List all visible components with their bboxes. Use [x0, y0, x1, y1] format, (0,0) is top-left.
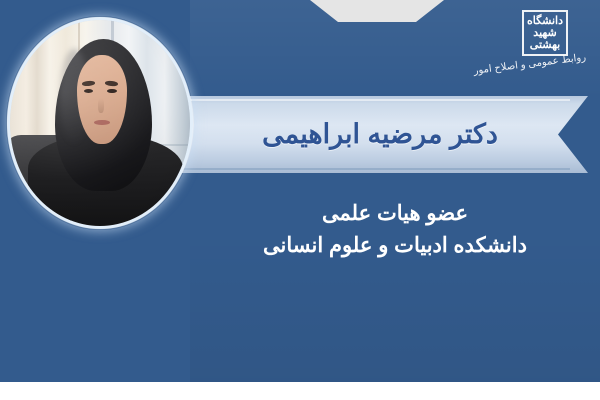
subtitle-line-faculty: دانشکده ادبیات و علوم انسانی	[200, 229, 590, 262]
logo-square-icon: دانشگاه شهید بهشتی	[522, 10, 568, 56]
university-logo: دانشگاه شهید بهشتی روابط عمومی و اصلاح ا…	[468, 6, 590, 82]
subtitle-line-role: عضو هیات علمی	[200, 198, 590, 229]
poster-card: دکتر مرضیه ابراهیمی عضو هیات علمی دانشکد…	[0, 0, 600, 400]
person-name: دکتر مرضیه ابراهیمی	[190, 96, 570, 173]
portrait-photo	[10, 20, 190, 226]
logo-line-1: دانشگاه	[524, 15, 566, 27]
photo-vignette	[10, 20, 190, 226]
logo-line-2: شهید	[524, 27, 566, 39]
subtitle-block: عضو هیات علمی دانشکده ادبیات و علوم انسا…	[200, 198, 590, 262]
logo-line-3: بهشتی	[524, 39, 566, 51]
